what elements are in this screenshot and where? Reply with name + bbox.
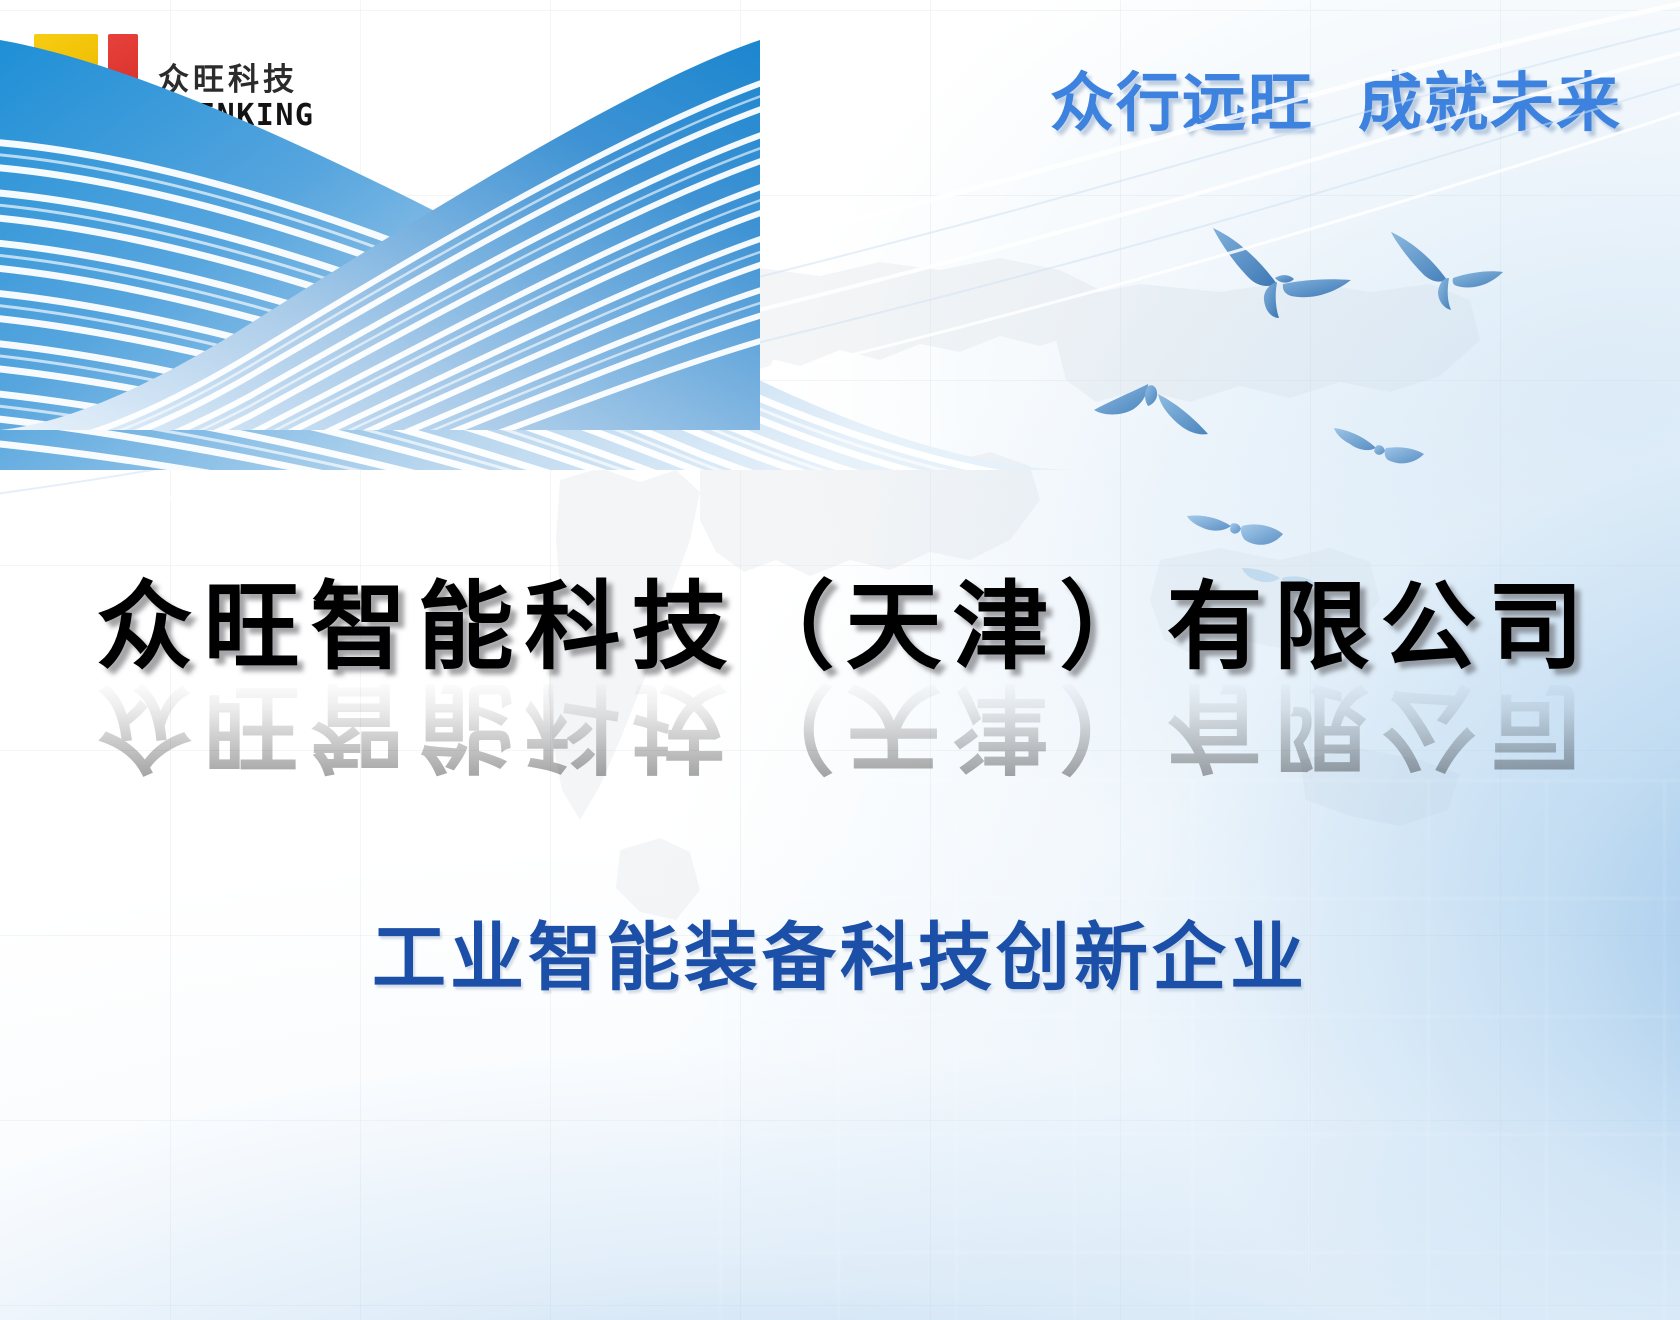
title-block: 众旺智能科技（天津）有限公司 众旺智能科技（天津）有限公司 — [0, 576, 1680, 777]
seagull-icon — [1385, 228, 1505, 320]
logo-name-cn: 众旺科技 — [158, 64, 315, 95]
logo-yellow-tile — [34, 34, 98, 94]
tagline-part-2: 成就未来 — [1358, 67, 1622, 139]
tagline-part-1: 众行远旺 — [1050, 67, 1314, 139]
seagull-icon — [1205, 222, 1355, 332]
logo-name-en: THINKING — [158, 101, 315, 131]
company-subtitle: 工业智能装备科技创新企业 — [0, 898, 1680, 1005]
logo-mark-icon — [34, 34, 138, 156]
company-title-reflection: 众旺智能科技（天津）有限公司 — [86, 674, 1595, 778]
logo-wordmark: 众旺科技 THINKING — [158, 60, 315, 131]
logo-green-tile — [34, 102, 98, 160]
seagull-icon — [1330, 418, 1426, 480]
seagull-icon — [1090, 378, 1215, 460]
background-grid-texture — [720, 780, 1680, 1320]
logo-blue-tile — [108, 102, 138, 160]
company-logo[interactable]: 众旺科技 THINKING — [34, 34, 315, 156]
company-title: 众旺智能科技（天津）有限公司 — [86, 576, 1595, 680]
presentation-slide: 众旺科技 THINKING 众行远旺成就未来 众旺智能科技（天津）有限公司 众旺… — [0, 0, 1680, 1320]
logo-red-tile — [108, 34, 138, 94]
header-tagline: 众行远旺成就未来 — [1050, 52, 1622, 144]
